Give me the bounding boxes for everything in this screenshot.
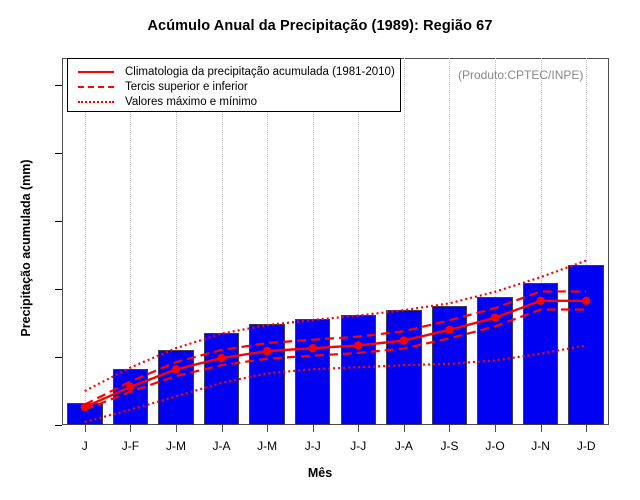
climatology-marker (309, 344, 317, 352)
x-tick-mark (222, 425, 223, 432)
climatology-marker (491, 313, 499, 321)
page-title: Acúmulo Anual da Precipitação (1989): Re… (0, 18, 640, 34)
x-tick-label: J-S (440, 439, 458, 453)
climatology-marker (354, 341, 362, 349)
y-axis-label: Precipitação acumulada (mm) (19, 128, 33, 368)
x-tick-label: J-A (213, 439, 231, 453)
plot-area: 010002000300040005000 JJ-FJ-MJ-AJ-MJ-JJ-… (62, 58, 609, 425)
x-tick-label: J-N (531, 439, 550, 453)
x-tick-mark (404, 425, 405, 432)
x-tick-mark (586, 425, 587, 432)
legend-item: Tercis superior e inferior (76, 79, 394, 94)
climatology-marker (217, 354, 225, 362)
chart-figure: Acúmulo Anual da Precipitação (1989): Re… (0, 0, 640, 500)
x-tick-mark (541, 425, 542, 432)
x-tick-label: J-D (577, 439, 596, 453)
legend-item-label: Valores máximo e mínimo (125, 95, 257, 109)
x-tick-mark (267, 425, 268, 432)
product-credit: (Produto:CPTEC/INPE) (458, 68, 583, 82)
climatology-marker (536, 297, 544, 305)
climatology-marker (400, 336, 408, 344)
climatology-marker (172, 365, 180, 373)
climatology-marker (263, 347, 271, 355)
legend-item-label: Tercis superior e inferior (125, 80, 248, 94)
y-tick-mark (55, 153, 62, 154)
x-tick-label: J-M (166, 439, 186, 453)
x-tick-label: J-A (395, 439, 413, 453)
x-tick-label: J (82, 439, 88, 453)
legend-line-icon (76, 80, 116, 94)
extreme-line (85, 261, 586, 391)
legend-item: Valores máximo e mínimo (76, 94, 394, 109)
y-tick-mark (55, 85, 62, 86)
x-tick-mark (85, 425, 86, 432)
climatology-marker (445, 326, 453, 334)
x-tick-mark (449, 425, 450, 432)
extreme-line (85, 345, 586, 421)
legend-item: Climatologia da precipitação acumulada (… (76, 64, 394, 79)
x-tick-label: J-F (122, 439, 139, 453)
climatology-overlay (62, 58, 609, 425)
x-tick-label: J-J (305, 439, 321, 453)
legend-line-icon (76, 95, 116, 109)
y-tick-mark (55, 357, 62, 358)
legend-item-label: Climatologia da precipitação acumulada (… (125, 65, 395, 79)
x-tick-mark (130, 425, 131, 432)
x-tick-label: J-M (257, 439, 277, 453)
climatology-marker (582, 297, 590, 305)
legend: Climatologia da precipitação acumulada (… (67, 58, 401, 112)
y-tick-mark (55, 289, 62, 290)
x-tick-label: J-O (485, 439, 504, 453)
x-axis-label: Mês (0, 466, 640, 480)
climatology-marker (126, 383, 134, 391)
y-tick-mark (55, 425, 62, 426)
climatology-marker (81, 403, 89, 411)
x-tick-mark (358, 425, 359, 432)
x-tick-mark (495, 425, 496, 432)
x-tick-label: J-J (350, 439, 366, 453)
tercile-line (85, 309, 586, 409)
x-tick-mark (313, 425, 314, 432)
x-tick-mark (176, 425, 177, 432)
y-tick-mark (55, 221, 62, 222)
legend-line-icon (76, 65, 116, 79)
